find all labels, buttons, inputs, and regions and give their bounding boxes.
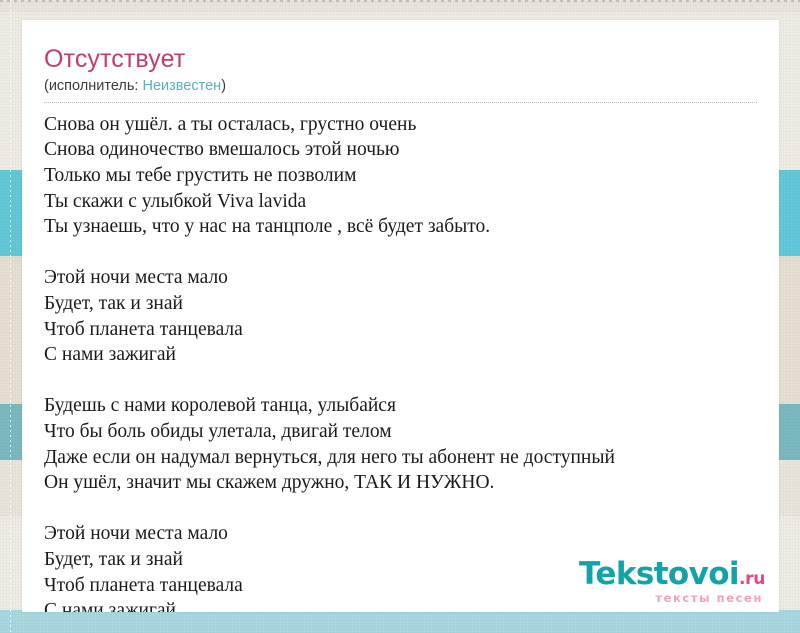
page-title: Отсутствует	[44, 46, 757, 74]
logo-tld: .ru	[739, 571, 765, 588]
lyrics-line: Чтоб планета танцевала	[44, 317, 757, 343]
lyrics-text: Снова он ушёл. а ты осталась, грустно оч…	[44, 103, 757, 612]
lyrics-line: Этой ночи места мало	[44, 265, 757, 291]
lyrics-verse: Будешь с нами королевой танца, улыбайсяЧ…	[44, 393, 757, 495]
lyrics-line: Ты скажи с улыбкой Viva lavida	[44, 189, 757, 215]
lyrics-line: Снова одиночество вмешалось этой ночью	[44, 137, 757, 163]
lyrics-card: Отсутствует (исполнитель: Неизвестен) Сн…	[22, 20, 779, 612]
lyrics-line: Будет, так и знай	[44, 291, 757, 317]
lyrics-line: Даже если он надумал вернуться, для него…	[44, 445, 757, 471]
lyrics-line: Только мы тебе грустить не позволим	[44, 163, 757, 189]
lyrics-line: Он ушёл, значит мы скажем дружно, ТАК И …	[44, 470, 757, 496]
lyrics-verse: Этой ночи места малоБудет, так и знайЧто…	[44, 265, 757, 367]
artist-link[interactable]: Неизвестен	[142, 78, 221, 94]
logo-tagline: тексты песен	[579, 593, 763, 605]
lyrics-line: Что бы боль обиды улетала, двигай телом	[44, 419, 757, 445]
artist-prefix-label: (исполнитель:	[44, 78, 142, 94]
card-content: Отсутствует (исполнитель: Неизвестен) Сн…	[22, 20, 779, 612]
lyrics-line: Этой ночи места мало	[44, 521, 757, 547]
lyrics-line: Снова он ушёл. а ты осталась, грустно оч…	[44, 112, 757, 138]
site-logo[interactable]: Tekstovoi.ru тексты песен	[579, 559, 765, 605]
lyrics-line: С нами зажигай	[44, 342, 757, 368]
lyrics-line: Ты узнаешь, что у нас на танцполе , всё …	[44, 214, 757, 240]
page-background: Отсутствует (исполнитель: Неизвестен) Сн…	[0, 0, 800, 633]
artist-line: (исполнитель: Неизвестен)	[44, 78, 757, 103]
lyrics-line: Будешь с нами королевой танца, улыбайся	[44, 393, 757, 419]
logo-wordmark: Tekstovoi	[579, 559, 739, 590]
lyrics-verse: Снова он ушёл. а ты осталась, грустно оч…	[44, 112, 757, 240]
artist-suffix-label: )	[221, 78, 226, 94]
